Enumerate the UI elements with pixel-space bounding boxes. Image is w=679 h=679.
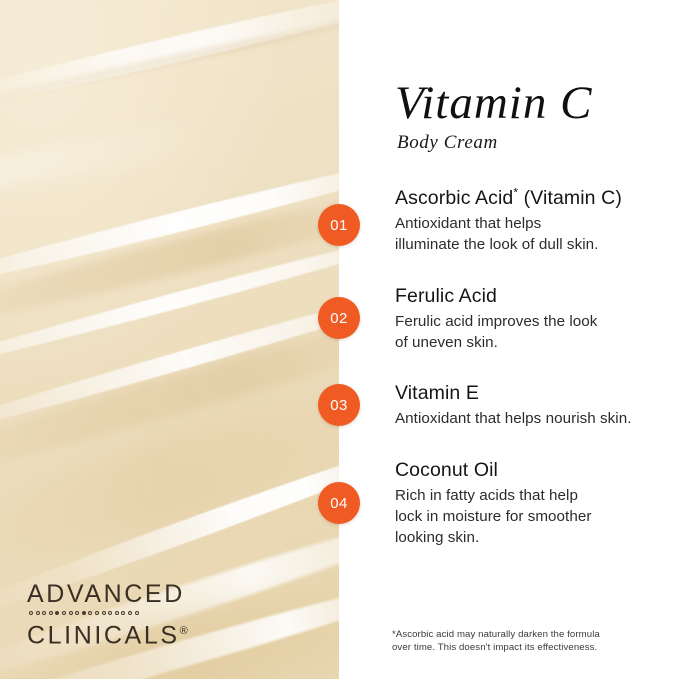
logo-dot [75,611,79,615]
logo-dot [88,611,92,615]
logo-dot-filled [82,611,86,615]
ingredient-item-02: Ferulic Acid Ferulic acid improves the l… [395,284,679,353]
ingredient-description-02: Ferulic acid improves the look of uneven… [395,311,679,353]
ingredient-name-text: Coconut Oil [395,459,498,481]
page-title: Vitamin C [395,78,675,128]
ingredient-name-text: Ferulic Acid [395,285,497,307]
ingredient-badge-04[interactable]: 04 [318,482,360,524]
brand-name-line-1: ADVANCED [27,581,188,608]
ingredient-item-03: Vitamin E Antioxidant that helps nourish… [395,381,679,429]
ingredient-item-01: Ascorbic Acid* (Vitamin C) Antioxidant t… [395,186,679,255]
footnote-disclaimer: *Ascorbic acid may naturally darken the … [392,629,647,654]
logo-dot [36,611,40,615]
page-subtitle: Body Cream [397,132,675,154]
ingredient-name-02: Ferulic Acid [395,284,679,308]
ingredient-badge-01[interactable]: 01 [318,204,360,246]
ingredient-badge-02[interactable]: 02 [318,297,360,339]
ingredient-description-01: Antioxidant that helps illuminate the lo… [395,213,679,255]
product-infographic: ADVANCED CLINICALS® [0,0,679,679]
brand-logo-dot-row [29,609,188,618]
ingredient-description-04: Rich in fatty acids that help lock in mo… [395,485,679,548]
logo-dot [128,611,132,615]
ingredient-description-line: Antioxidant that helps nourish skin. [395,408,679,429]
logo-dot [108,611,112,615]
ingredient-description-line: lock in moisture for smoother [395,506,679,527]
logo-dot [62,611,66,615]
ingredient-description-line: Antioxidant that helps [395,213,679,234]
ingredient-badge-03[interactable]: 03 [318,384,360,426]
logo-dot [29,611,33,615]
logo-dot [42,611,46,615]
footnote-line: over time. This doesn't impact its effec… [392,642,647,655]
ingredient-name-03: Vitamin E [395,381,679,405]
ingredient-name-text: Ascorbic Acid [395,187,513,209]
ingredient-description-line: looking skin. [395,527,679,548]
logo-dot [135,611,139,615]
ingredient-name-01: Ascorbic Acid* (Vitamin C) [395,186,679,210]
ingredient-name-suffix: (Vitamin C) [518,187,622,209]
ingredient-name-text: Vitamin E [395,382,479,404]
logo-dot [95,611,99,615]
ingredient-description-line: Rich in fatty acids that help [395,485,679,506]
ingredient-description-line: of uneven skin. [395,332,679,353]
brand-name-line-2-text: CLINICALS [27,621,180,649]
logo-dot [115,611,119,615]
logo-dot [49,611,53,615]
footnote-line: *Ascorbic acid may naturally darken the … [392,629,647,642]
logo-dot [121,611,125,615]
ingredient-description-03: Antioxidant that helps nourish skin. [395,408,679,429]
logo-dot-filled [55,611,59,615]
ingredient-item-04: Coconut Oil Rich in fatty acids that hel… [395,458,679,548]
logo-dot [102,611,106,615]
cream-texture-photo: ADVANCED CLINICALS® [0,0,339,679]
ingredient-name-04: Coconut Oil [395,458,679,482]
title-block: Vitamin C Body Cream [395,78,675,154]
registered-trademark-icon: ® [180,625,188,637]
ingredient-description-line: illuminate the look of dull skin. [395,234,679,255]
brand-logo: ADVANCED CLINICALS® [27,581,188,649]
brand-name-line-2: CLINICALS® [27,618,188,649]
logo-dot [69,611,73,615]
ingredient-description-line: Ferulic acid improves the look [395,311,679,332]
